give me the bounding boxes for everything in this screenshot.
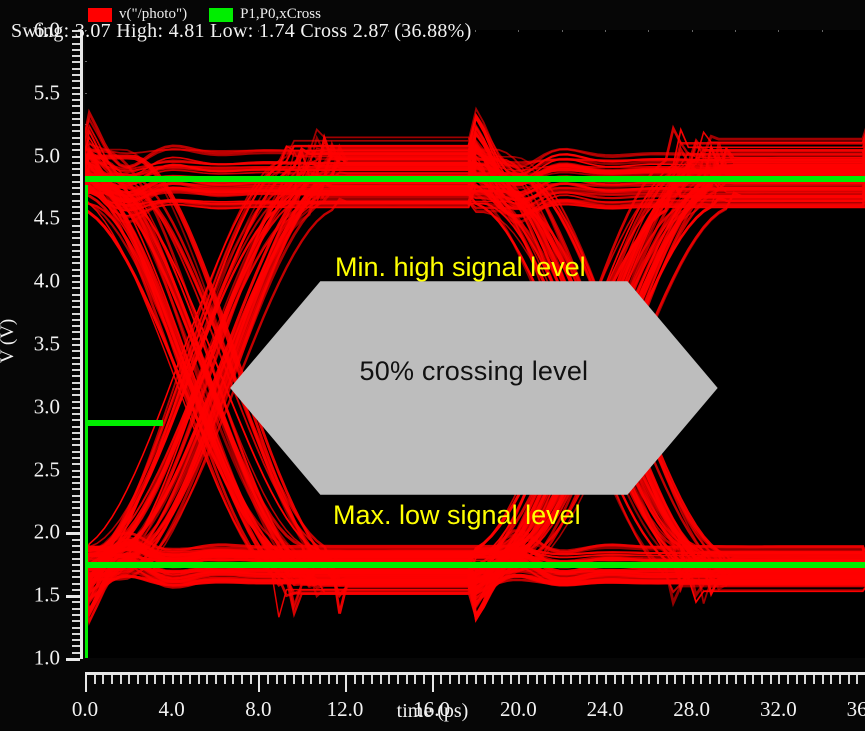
- y-tick-minor: [72, 357, 80, 359]
- x-tick-minor: [761, 675, 763, 684]
- x-tick-minor: [440, 675, 442, 684]
- y-tick-minor: [72, 501, 80, 503]
- x-tick-minor: [778, 675, 780, 684]
- y-tick-minor: [72, 363, 80, 365]
- y-tick-label: 2.5: [20, 457, 60, 482]
- y-tick-minor: [72, 438, 80, 440]
- y-tick-minor: [72, 212, 80, 214]
- y-tick-minor: [72, 200, 80, 202]
- x-tick-minor: [466, 675, 468, 684]
- x-tick-minor: [822, 675, 824, 684]
- y-tick-minor: [72, 444, 80, 446]
- x-tick-minor: [614, 675, 616, 684]
- x-tick-minor: [406, 675, 408, 684]
- y-tick-minor: [72, 124, 80, 126]
- y-tick-label: 3.5: [20, 332, 60, 357]
- marker-line-cross: [85, 420, 163, 426]
- x-tick-minor: [302, 675, 304, 684]
- y-tick-major: [66, 658, 80, 661]
- y-tick-minor: [72, 331, 80, 333]
- y-tick-minor: [72, 620, 80, 622]
- x-tick-minor: [388, 675, 390, 684]
- y-tick-minor: [72, 294, 80, 296]
- y-tick-minor: [72, 105, 80, 107]
- y-tick-minor: [72, 401, 80, 403]
- y-tick-minor: [72, 313, 80, 315]
- x-tick-minor: [796, 675, 798, 684]
- y-tick-minor: [72, 407, 80, 409]
- x-tick-minor: [484, 675, 486, 684]
- x-tick-minor: [137, 675, 139, 684]
- y-tick-minor: [72, 558, 80, 560]
- y-tick-label: 1.0: [20, 646, 60, 671]
- x-tick-minor: [380, 675, 382, 684]
- marker-line-low: [85, 562, 865, 568]
- eye-mask-hexagon: [230, 281, 718, 495]
- x-tick-minor: [510, 675, 512, 684]
- y-tick-minor: [72, 344, 80, 346]
- x-tick-minor: [813, 675, 815, 684]
- y-tick-minor: [72, 262, 80, 264]
- x-tick-minor: [362, 675, 364, 684]
- x-axis-title: time (ps): [0, 700, 865, 723]
- y-tick-minor: [72, 419, 80, 421]
- x-tick-major: [258, 675, 260, 692]
- x-tick-minor: [458, 675, 460, 684]
- x-tick-minor: [328, 675, 330, 684]
- legend-label: v("/photo"): [119, 6, 187, 23]
- y-tick-minor: [72, 325, 80, 327]
- y-tick-label: 1.5: [20, 583, 60, 608]
- x-tick-minor: [648, 675, 650, 684]
- y-tick-minor: [72, 181, 80, 183]
- x-tick-minor: [276, 675, 278, 684]
- y-tick-minor: [72, 112, 80, 114]
- x-tick-minor: [692, 675, 694, 684]
- y-tick-major: [66, 595, 80, 598]
- y-tick-minor: [72, 193, 80, 195]
- x-tick-minor: [206, 675, 208, 684]
- x-tick-minor: [120, 675, 122, 684]
- y-tick-minor: [72, 545, 80, 547]
- x-tick-minor: [310, 675, 312, 684]
- x-tick-minor: [770, 675, 772, 684]
- marker-line-origin: [85, 185, 88, 658]
- x-tick-minor: [657, 675, 659, 684]
- x-tick-minor: [475, 675, 477, 684]
- y-tick-minor: [72, 143, 80, 145]
- y-tick-minor: [72, 74, 80, 76]
- y-tick-label: 2.0: [20, 520, 60, 545]
- y-tick-minor: [72, 137, 80, 139]
- min-high-signal-label: Min. high signal level: [335, 252, 586, 283]
- y-tick-minor: [72, 570, 80, 572]
- x-tick-minor: [102, 675, 104, 684]
- y-tick-minor: [72, 130, 80, 132]
- y-tick-minor: [72, 269, 80, 271]
- y-tick-minor: [72, 244, 80, 246]
- x-tick-minor: [371, 675, 373, 684]
- y-tick-minor: [72, 156, 80, 158]
- measurement-stats-text: Swing: 3.07 High: 4.81 Low: 1.74 Cross 2…: [11, 20, 472, 43]
- x-tick-minor: [293, 675, 295, 684]
- y-tick-minor: [72, 645, 80, 647]
- x-tick-major: [85, 675, 87, 692]
- y-tick-minor: [72, 375, 80, 377]
- y-tick-minor: [72, 350, 80, 352]
- y-tick-label: 5.0: [20, 143, 60, 168]
- eye-diagram-figure: 1.01.52.02.53.03.54.04.55.05.56.0 V (V) …: [0, 0, 865, 731]
- y-tick-minor: [72, 369, 80, 371]
- y-tick-minor: [72, 608, 80, 610]
- x-tick-minor: [414, 675, 416, 684]
- x-tick-minor: [224, 675, 226, 684]
- x-tick-minor: [189, 675, 191, 684]
- legend-label: P1,P0,xCross: [240, 6, 321, 23]
- x-tick-minor: [631, 675, 633, 684]
- y-tick-minor: [72, 476, 80, 478]
- x-tick-minor: [449, 675, 451, 684]
- y-tick-minor: [72, 576, 80, 578]
- y-tick-minor: [72, 319, 80, 321]
- y-tick-minor: [72, 601, 80, 603]
- x-tick-minor: [744, 675, 746, 684]
- y-tick-minor: [72, 118, 80, 120]
- y-tick-minor: [72, 93, 80, 95]
- x-tick-minor: [839, 675, 841, 684]
- x-tick-minor: [354, 675, 356, 684]
- x-tick-minor: [553, 675, 555, 684]
- y-tick-minor: [72, 394, 80, 396]
- y-tick-minor: [72, 507, 80, 509]
- x-tick-minor: [180, 675, 182, 684]
- x-tick-minor: [163, 675, 165, 684]
- y-tick-minor: [72, 463, 80, 465]
- x-tick-minor: [709, 675, 711, 684]
- x-tick-minor: [718, 675, 720, 684]
- y-tick-minor: [72, 168, 80, 170]
- x-tick-minor: [640, 675, 642, 684]
- y-tick-minor: [72, 457, 80, 459]
- x-tick-minor: [423, 675, 425, 684]
- x-tick-minor: [544, 675, 546, 684]
- x-tick-minor: [752, 675, 754, 684]
- x-tick-minor: [94, 675, 96, 684]
- y-tick-major: [66, 532, 80, 535]
- y-tick-minor: [72, 218, 80, 220]
- x-tick-minor: [804, 675, 806, 684]
- y-tick-minor: [72, 61, 80, 63]
- x-tick-minor: [856, 675, 858, 684]
- y-tick-minor: [72, 382, 80, 384]
- y-tick-minor: [72, 99, 80, 101]
- marker-line-high: [85, 176, 865, 182]
- y-tick-minor: [72, 287, 80, 289]
- x-tick-minor: [683, 675, 685, 684]
- y-axis-line: [80, 30, 83, 659]
- legend: v("/photo")P1,P0,xCross: [88, 6, 321, 23]
- x-tick-minor: [735, 675, 737, 684]
- y-tick-minor: [72, 652, 80, 654]
- y-tick-minor: [72, 49, 80, 51]
- y-tick-minor: [72, 206, 80, 208]
- y-tick-minor: [72, 187, 80, 189]
- y-tick-label: 5.5: [20, 80, 60, 105]
- x-tick-minor: [527, 675, 529, 684]
- y-tick-label: 4.5: [20, 206, 60, 231]
- x-tick-minor: [605, 675, 607, 684]
- y-tick-minor: [72, 225, 80, 227]
- y-tick-minor: [72, 162, 80, 164]
- y-tick-minor: [72, 520, 80, 522]
- x-tick-minor: [570, 675, 572, 684]
- y-tick-minor: [72, 432, 80, 434]
- x-tick-minor: [596, 675, 598, 684]
- x-tick-minor: [154, 675, 156, 684]
- y-tick-minor: [72, 281, 80, 283]
- y-tick-minor: [72, 237, 80, 239]
- y-tick-minor: [72, 68, 80, 70]
- x-tick-minor: [111, 675, 113, 684]
- x-tick-minor: [848, 675, 850, 684]
- y-tick-minor: [72, 388, 80, 390]
- x-tick-minor: [492, 675, 494, 684]
- y-tick-minor: [72, 470, 80, 472]
- y-tick-minor: [72, 250, 80, 252]
- x-tick-minor: [284, 675, 286, 684]
- legend-swatch-icon: [88, 8, 112, 22]
- x-tick-minor: [674, 675, 676, 684]
- y-tick-minor: [72, 426, 80, 428]
- y-tick-minor: [72, 451, 80, 453]
- y-tick-minor: [72, 306, 80, 308]
- x-tick-minor: [128, 675, 130, 684]
- y-tick-minor: [72, 488, 80, 490]
- x-tick-minor: [267, 675, 269, 684]
- x-tick-minor: [146, 675, 148, 684]
- x-tick-minor: [319, 675, 321, 684]
- y-tick-minor: [72, 539, 80, 541]
- crossing-level-line: [85, 379, 865, 385]
- y-tick-minor: [72, 627, 80, 629]
- x-tick-minor: [172, 675, 174, 684]
- x-tick-minor: [622, 675, 624, 684]
- x-tick-minor: [830, 675, 832, 684]
- legend-entry-0[interactable]: v("/photo"): [88, 6, 187, 23]
- x-tick-minor: [562, 675, 564, 684]
- x-tick-minor: [397, 675, 399, 684]
- x-tick-minor: [588, 675, 590, 684]
- x-tick-minor: [250, 675, 252, 684]
- x-tick-major: [345, 675, 347, 692]
- y-tick-minor: [72, 55, 80, 57]
- legend-swatch-icon: [209, 8, 233, 22]
- x-tick-minor: [787, 675, 789, 684]
- x-tick-minor: [232, 675, 234, 684]
- x-tick-minor: [198, 675, 200, 684]
- x-tick-minor: [215, 675, 217, 684]
- y-tick-minor: [72, 231, 80, 233]
- y-tick-minor: [72, 338, 80, 340]
- plot-area: 50% crossing level Min. high signal leve…: [85, 30, 865, 658]
- y-tick-minor: [72, 482, 80, 484]
- y-tick-minor: [72, 514, 80, 516]
- y-tick-minor: [72, 633, 80, 635]
- y-tick-minor: [72, 589, 80, 591]
- y-tick-minor: [72, 149, 80, 151]
- y-tick-minor: [72, 87, 80, 89]
- x-tick-minor: [726, 675, 728, 684]
- y-tick-minor: [72, 564, 80, 566]
- y-tick-minor: [72, 495, 80, 497]
- x-tick-minor: [241, 675, 243, 684]
- x-tick-minor: [579, 675, 581, 684]
- x-tick-minor: [501, 675, 503, 684]
- y-tick-minor: [72, 275, 80, 277]
- max-low-signal-label: Max. low signal level: [333, 500, 581, 531]
- y-tick-minor: [72, 583, 80, 585]
- y-tick-minor: [72, 300, 80, 302]
- x-tick-major: [432, 675, 434, 692]
- y-axis-title: V (V): [0, 311, 19, 371]
- y-tick-minor: [72, 526, 80, 528]
- x-tick-minor: [336, 675, 338, 684]
- x-tick-minor: [518, 675, 520, 684]
- y-tick-minor: [72, 639, 80, 641]
- y-tick-label: 4.0: [20, 269, 60, 294]
- y-tick-minor: [72, 256, 80, 258]
- y-tick-minor: [72, 80, 80, 82]
- y-tick-minor: [72, 174, 80, 176]
- y-tick-minor: [72, 614, 80, 616]
- x-tick-minor: [700, 675, 702, 684]
- y-tick-label: 3.0: [20, 394, 60, 419]
- legend-entry-1[interactable]: P1,P0,xCross: [209, 6, 321, 23]
- y-tick-minor: [72, 551, 80, 553]
- x-tick-minor: [666, 675, 668, 684]
- x-tick-minor: [536, 675, 538, 684]
- y-tick-minor: [72, 413, 80, 415]
